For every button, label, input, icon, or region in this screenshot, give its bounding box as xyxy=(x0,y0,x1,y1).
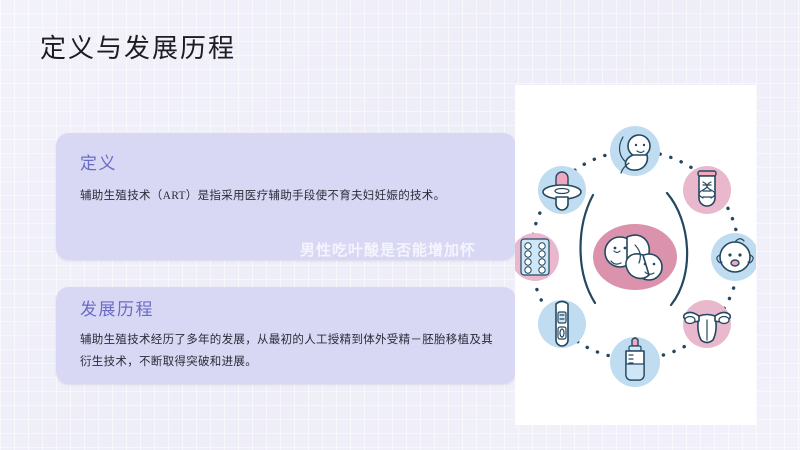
baby-face-icon xyxy=(711,233,756,281)
card-definition-body: 辅助生殖技术（ART）是指采用医疗辅助手段使不育夫妇妊娠的技术。 xyxy=(80,185,494,207)
card-history: 发展历程 辅助生殖技术经历了多年的发展，从最初的人工授精到体外受精－胚胎移植及其… xyxy=(56,287,516,384)
twin-fetuses-in-womb-icon xyxy=(581,193,688,305)
card-definition: 定义 辅助生殖技术（ART）是指采用医疗辅助手段使不育夫妇妊娠的技术。 xyxy=(56,133,516,260)
card-history-body: 辅助生殖技术经历了多年的发展，从最初的人工授精到体外受精－胚胎移植及其衍生技术，… xyxy=(80,329,494,373)
pregnancy-test-icon xyxy=(538,300,586,348)
fertility-illustration: .ln{fill:none;stroke:#24485f;stroke-widt… xyxy=(515,85,756,425)
baby-bottle-icon xyxy=(610,337,660,387)
slide-canvas: 定义与发展历程 定义 辅助生殖技术（ART）是指采用医疗辅助手段使不育夫妇妊娠的… xyxy=(0,0,800,450)
dna-test-tube-icon xyxy=(683,166,731,214)
card-definition-title: 定义 xyxy=(80,149,117,174)
fetus-icon xyxy=(610,126,660,176)
card-history-title: 发展历程 xyxy=(80,295,154,320)
pacifier-icon xyxy=(538,166,586,214)
page-title: 定义与发展历程 xyxy=(40,28,236,65)
pill-blister-icon xyxy=(515,233,559,281)
uterus-icon xyxy=(683,300,731,348)
illustration-panel: .ln{fill:none;stroke:#24485f;stroke-widt… xyxy=(515,85,756,425)
